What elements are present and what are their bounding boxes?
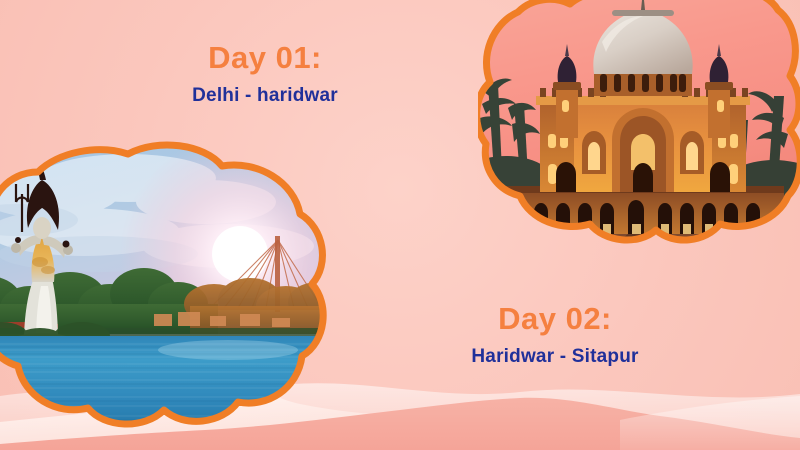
day-02-route: Haridwar - Sitapur — [395, 347, 715, 368]
slide-canvas: Day 01: Delhi - haridwar Day 02: Haridwa… — [0, 0, 800, 450]
photo-delhi-monument[interactable] — [478, 0, 800, 256]
day-01-title: Day 01: — [120, 42, 410, 75]
photo-haridwar-river[interactable] — [0, 136, 338, 436]
day-02-text-block: Day 02: Haridwar - Sitapur — [395, 303, 715, 367]
day-01-route: Delhi - haridwar — [120, 86, 410, 107]
day-01-text-block: Day 01: Delhi - haridwar — [120, 42, 410, 106]
day-02-title: Day 02: — [395, 303, 715, 336]
